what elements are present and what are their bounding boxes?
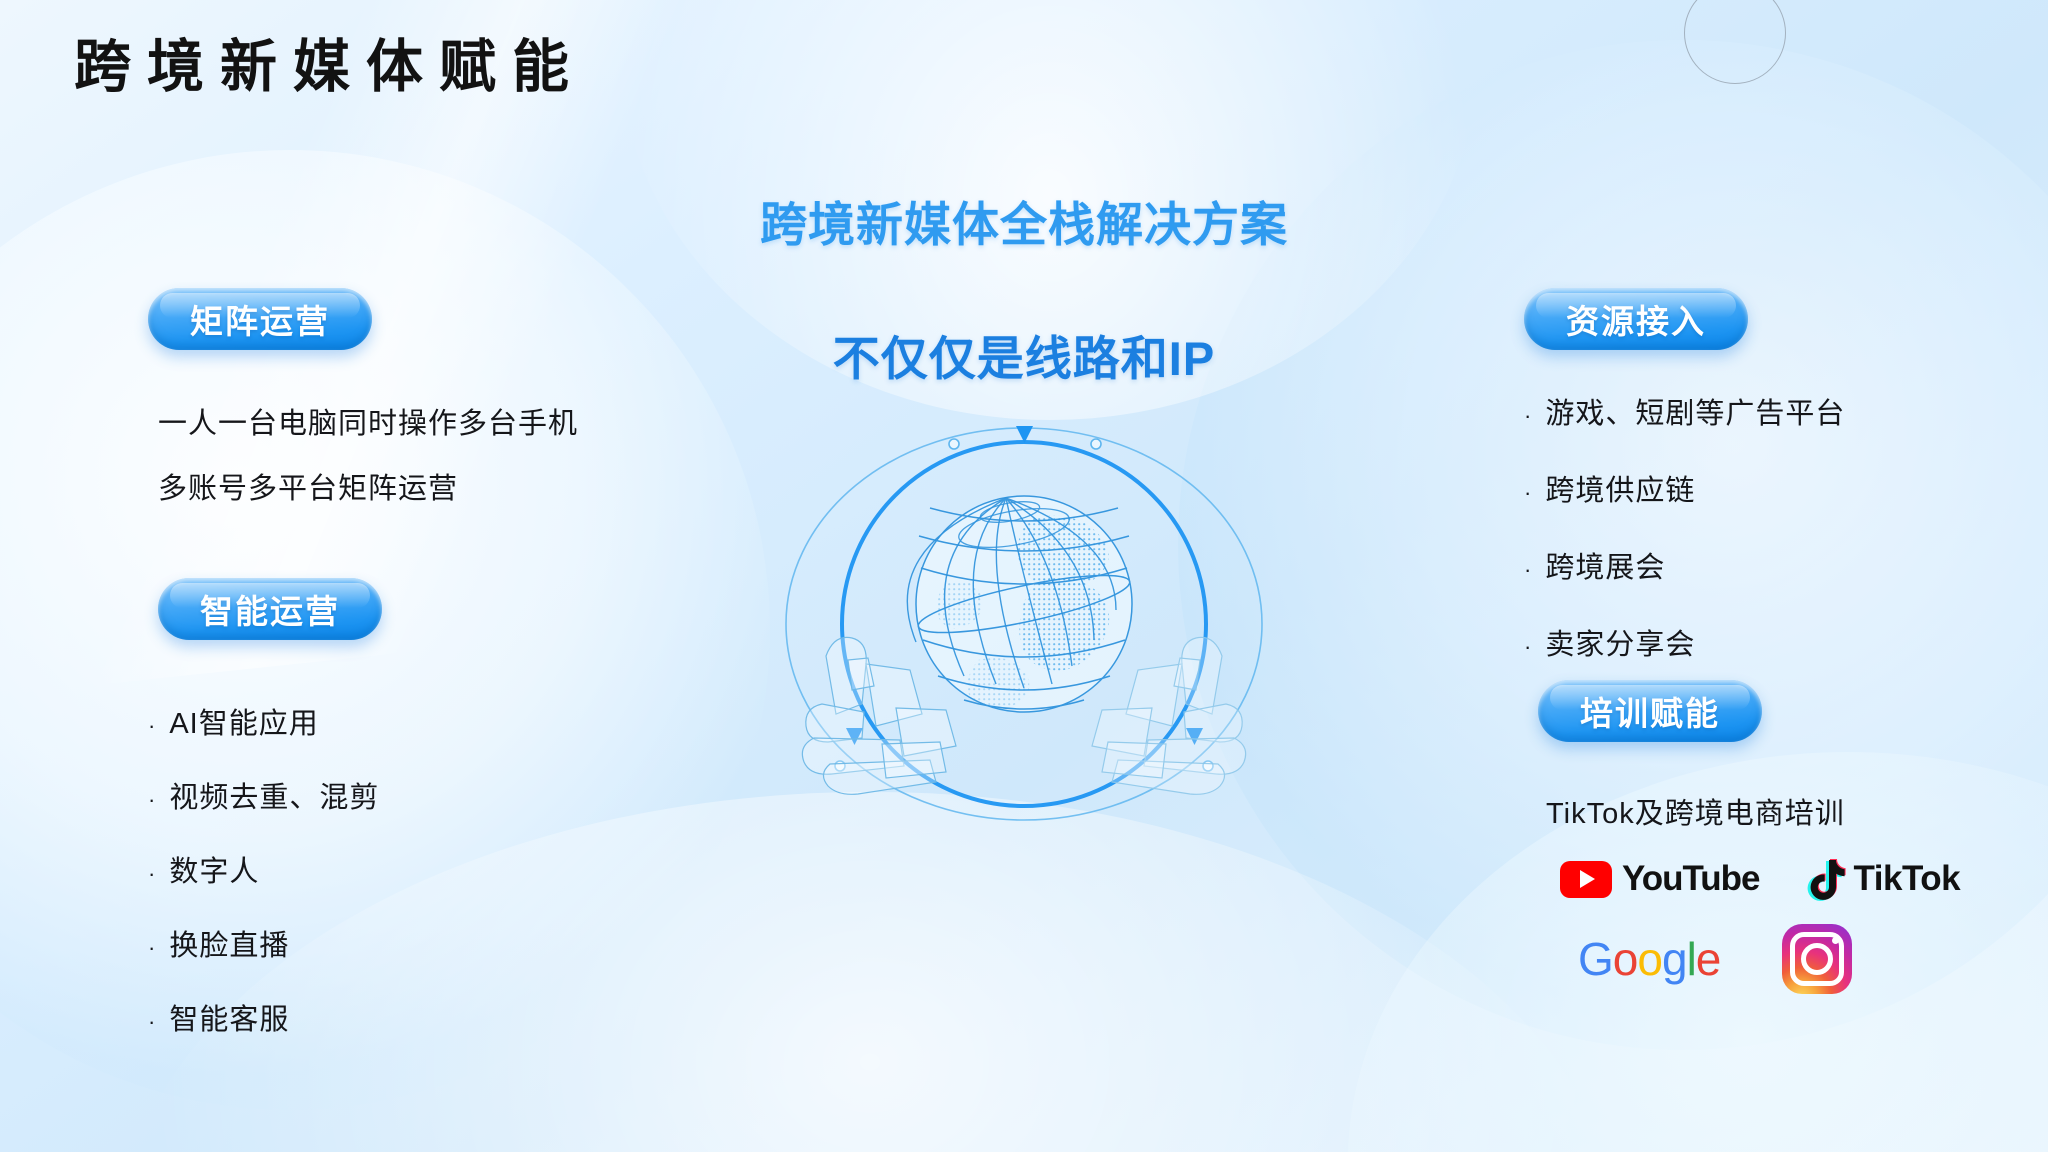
list-item: · 跨境展会 <box>1524 544 1845 586</box>
bullet-marker-icon: · <box>148 715 156 737</box>
list-item: · 卖家分享会 <box>1524 621 1845 663</box>
globe-in-hands-illustration <box>778 408 1270 840</box>
bullet-marker-icon: · <box>1524 405 1532 427</box>
bullet-marker-icon: · <box>148 863 156 885</box>
left-bullet-list: · AI智能应用 · 视频去重、混剪 · 数字人 · 换脸直播 · 智能客服 <box>148 700 379 1038</box>
list-item-label: 数字人 <box>169 848 259 890</box>
bullet-marker-icon: · <box>1524 559 1532 581</box>
google-letter-6: e <box>1696 936 1721 982</box>
bullet-marker-icon: · <box>148 1011 156 1033</box>
list-item: · AI智能应用 <box>148 700 379 742</box>
list-item: · 换脸直播 <box>148 922 379 964</box>
list-item: · 跨境供应链 <box>1524 467 1845 509</box>
pill-smart-operations[interactable]: 智能运营 <box>158 578 382 640</box>
list-item-label: 跨境供应链 <box>1545 467 1695 509</box>
pill-resource-access[interactable]: 资源接入 <box>1524 288 1748 350</box>
google-letter-5: l <box>1687 936 1696 982</box>
list-item-label: 视频去重、混剪 <box>169 774 379 816</box>
list-item-label: 智能客服 <box>169 996 289 1038</box>
google-letter-4: g <box>1662 936 1687 982</box>
bullet-marker-icon: · <box>1524 482 1532 504</box>
list-item-label: AI智能应用 <box>169 700 318 742</box>
center-subheadline: 不仅仅是线路和IP <box>833 320 1215 389</box>
right-bullet-list: · 游戏、短剧等广告平台 · 跨境供应链 · 跨境展会 · 卖家分享会 <box>1524 390 1845 663</box>
tiktok-logo-label: TikTok <box>1854 859 1961 899</box>
brand-logo-group: YouTube TikTok Google <box>1560 858 1980 1018</box>
list-item-label: 卖家分享会 <box>1545 621 1695 663</box>
bullet-marker-icon: · <box>148 789 156 811</box>
list-item: · 数字人 <box>148 848 379 890</box>
bullet-marker-icon: · <box>1524 636 1532 658</box>
list-item: · 视频去重、混剪 <box>148 774 379 816</box>
google-letter-3: o <box>1637 936 1662 982</box>
youtube-logo[interactable]: YouTube <box>1560 859 1760 899</box>
bullet-marker-icon: · <box>148 937 156 959</box>
google-letter-2: o <box>1613 936 1638 982</box>
instagram-logo[interactable] <box>1782 924 1852 994</box>
tiktok-note-icon <box>1806 858 1846 900</box>
youtube-play-icon <box>1560 861 1612 898</box>
pill-matrix-operations[interactable]: 矩阵运营 <box>148 288 372 350</box>
tiktok-logo[interactable]: TikTok <box>1806 858 1961 900</box>
center-headline: 跨境新媒体全栈解决方案 <box>760 186 1288 255</box>
left-paragraph-2: 多账号多平台矩阵运营 <box>158 465 458 507</box>
youtube-logo-label: YouTube <box>1622 859 1760 899</box>
google-logo[interactable]: Google <box>1578 936 1720 982</box>
list-item: · 智能客服 <box>148 996 379 1038</box>
list-item-label: 换脸直播 <box>169 922 289 964</box>
list-item: · 游戏、短剧等广告平台 <box>1524 390 1845 432</box>
list-item-label: 游戏、短剧等广告平台 <box>1545 390 1845 432</box>
page-title: 跨境新媒体赋能 <box>74 36 585 99</box>
left-paragraph-1: 一人一台电脑同时操作多台手机 <box>158 400 578 442</box>
logo-row-2: Google <box>1560 924 1980 994</box>
pill-training-empowerment[interactable]: 培训赋能 <box>1538 680 1762 742</box>
right-paragraph-1: TikTok及跨境电商培训 <box>1546 790 1845 832</box>
google-letter-1: G <box>1578 936 1613 982</box>
list-item-label: 跨境展会 <box>1545 544 1665 586</box>
logo-row-1: YouTube TikTok <box>1560 858 1980 900</box>
